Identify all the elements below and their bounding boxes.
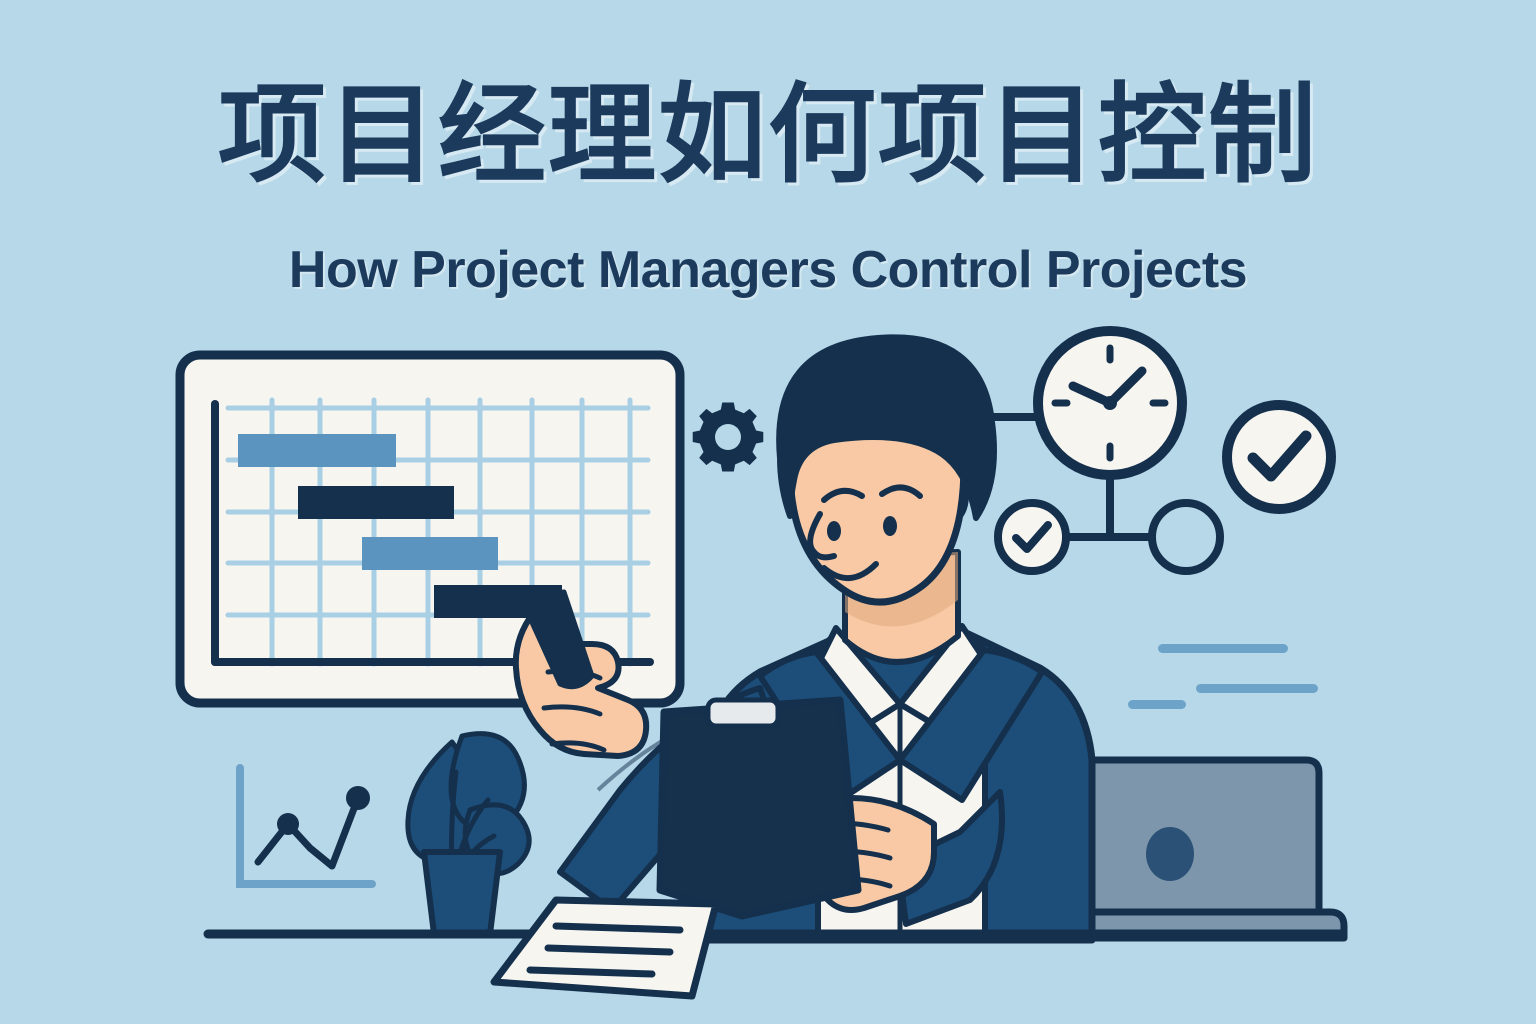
gear-icon [693,401,764,472]
eye-right [883,516,897,536]
gantt-bar-1[interactable] [238,434,396,467]
eye-left [827,521,841,541]
gantt-bar-3[interactable] [362,537,498,570]
clipboard-clip [708,700,778,726]
paper-document[interactable] [494,900,716,996]
scene-svg [0,0,1536,1024]
clock-icon [1038,331,1182,475]
laptop-logo [1146,827,1194,881]
check-circle-small-icon [998,503,1066,571]
mini-chart-point [346,786,370,810]
clipboard[interactable] [660,700,858,916]
check-circle-icon [1227,405,1331,509]
potted-plant [408,734,529,934]
gantt-bar-2[interactable] [298,486,454,519]
mini-chart-point [277,813,299,835]
clock-node-group [983,331,1331,571]
plant-pot [424,852,500,934]
illustration-canvas: 项目经理如何项目控制 How Project Managers Control … [0,0,1536,1024]
trend-line-chart [240,768,372,884]
node-circle-icon [1152,503,1220,571]
accent-lines [1128,644,1318,709]
mini-chart-axes [240,768,372,884]
mini-chart-line [258,798,358,866]
